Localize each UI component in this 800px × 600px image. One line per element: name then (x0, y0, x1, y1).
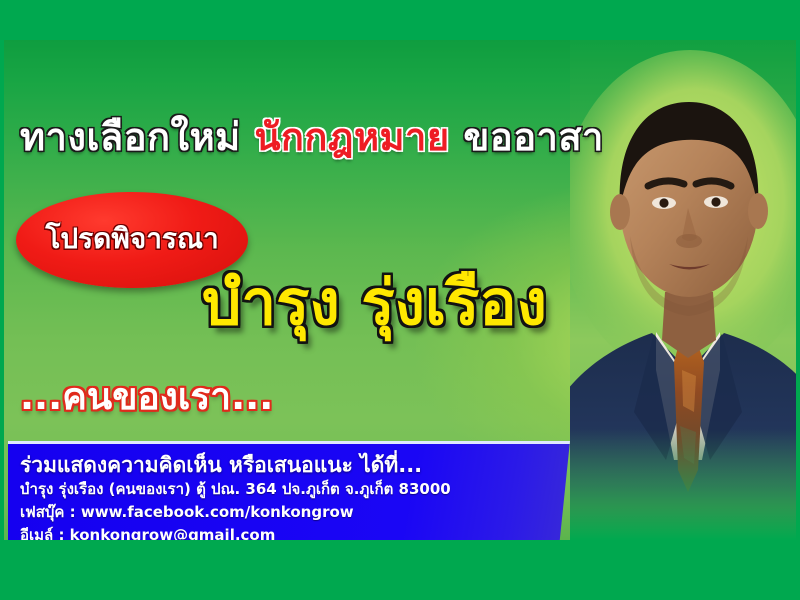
poster-inner-panel: ทางเลือกใหม่ นักกฎหมาย ขออาสา โปรดพิจารณ… (4, 40, 796, 540)
campaign-poster: ทางเลือกใหม่ นักกฎหมาย ขออาสา โปรดพิจารณ… (0, 0, 800, 600)
contact-facebook: เฟสบุ๊ค : www.facebook.com/konkongrow (20, 501, 570, 524)
campaign-slogan: ...คนของเรา... (20, 378, 273, 415)
headline-part-1: ทางเลือกใหม่ (20, 115, 241, 159)
contact-heading: ร่วมแสดงความคิดเห็น หรือเสนอแนะ ได้ที่..… (20, 452, 570, 478)
contact-box: ร่วมแสดงความคิดเห็น หรือเสนอแนะ ได้ที่..… (8, 441, 570, 540)
contact-address: บำรุง รุ่งเรือง (คนของเรา) ตู้ ปณ. 364 ป… (20, 478, 570, 501)
poster-headline: ทางเลือกใหม่ นักกฎหมาย ขออาสา (20, 118, 604, 156)
contact-email: อีเมล์ : konkongrow@gmail.com (20, 524, 570, 540)
headline-highlight: นักกฎหมาย (254, 115, 449, 159)
headline-part-3: ขออาสา (463, 115, 604, 159)
consider-badge-label: โปรดพิจารณา (16, 217, 248, 261)
candidate-name: บำรุง รุ่งเรือง (202, 272, 547, 334)
